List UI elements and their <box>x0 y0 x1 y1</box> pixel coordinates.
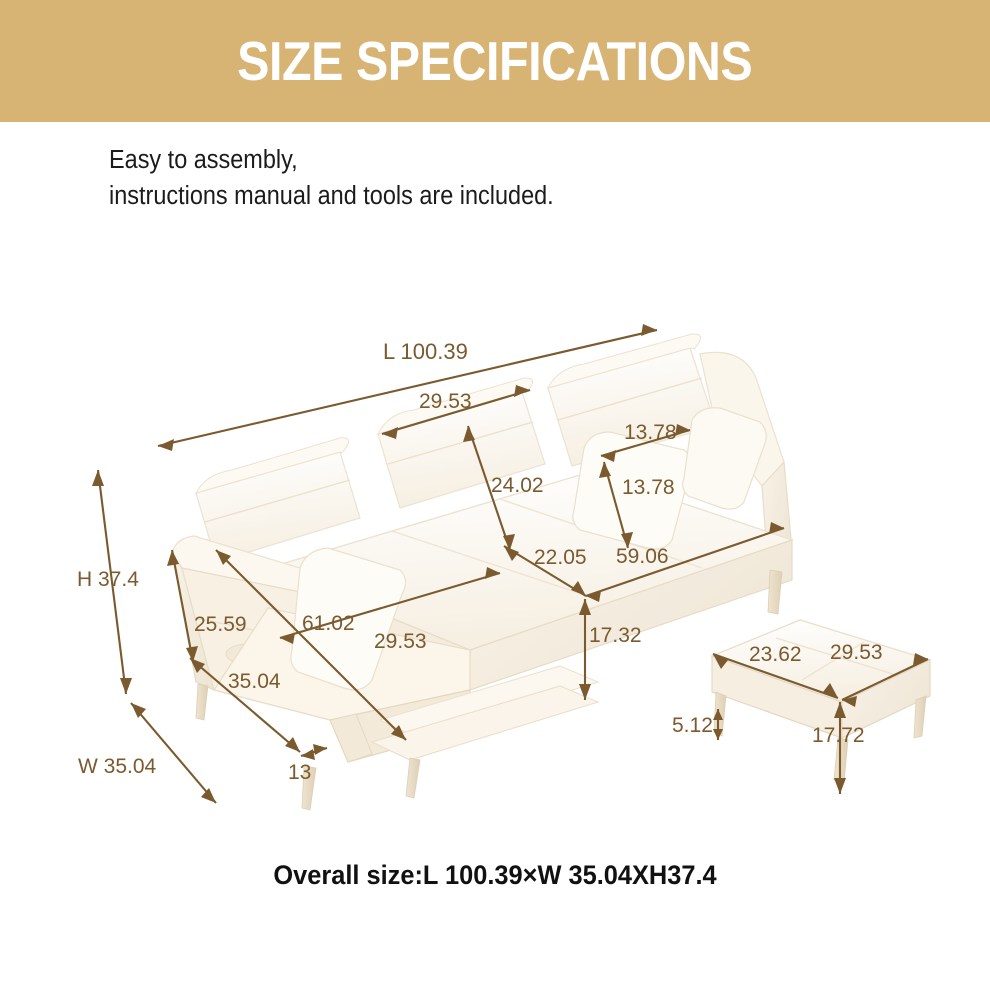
dim-label-overall-length: L 100.39 <box>383 339 468 365</box>
dim-label-pillow-height: 13.78 <box>622 476 675 500</box>
dim-label-armrest-height: 25.59 <box>194 613 247 637</box>
ottoman-group <box>712 620 930 782</box>
dim-label-backrest-width: 29.53 <box>419 390 472 414</box>
sofa-leg-mid <box>406 758 420 798</box>
size-specification-page: SIZE SPECIFICATIONS Easy to assembly, in… <box>0 0 990 990</box>
overall-size-caption: Overall size:L 100.39×W 35.04XH37.4 <box>30 860 961 891</box>
page-title: SIZE SPECIFICATIONS <box>237 34 752 89</box>
dim-label-overall-width: W 35.04 <box>78 755 156 779</box>
dim-label-seat-height: 17.32 <box>589 624 642 648</box>
dim-label-side-depth: 35.04 <box>228 670 281 694</box>
ottoman-leg-right <box>914 696 926 738</box>
dim-label-ottoman-width: 29.53 <box>830 641 883 665</box>
intro-text: Easy to assembly, instructions manual an… <box>109 142 808 214</box>
dim-label-overall-height: H 37.4 <box>77 568 139 592</box>
furniture-illustration <box>0 250 990 840</box>
dim-label-leg-height: 13 <box>288 761 311 785</box>
sofa-pillow-far-right <box>683 408 767 509</box>
dim-label-chaise-length: 61.02 <box>302 612 355 636</box>
dim-label-ottoman-depth: 23.62 <box>749 643 802 667</box>
dimension-drawing: L 100.39 H 37.4 W 35.04 29.53 24.02 13.7… <box>0 250 990 840</box>
header-band: SIZE SPECIFICATIONS <box>0 0 990 122</box>
sofa-leg-left-rear <box>196 684 208 720</box>
dim-label-seat-length: 59.06 <box>616 545 669 569</box>
dim-label-chaise-seat-width: 29.53 <box>374 630 427 654</box>
dim-label-backrest-height: 24.02 <box>491 474 544 498</box>
dim-label-ottoman-leg-height: 5.12 <box>672 714 713 738</box>
dim-label-pillow-width: 13.78 <box>624 421 677 445</box>
dim-label-ottoman-height: 17.72 <box>812 724 865 748</box>
dim-label-seat-depth: 22.05 <box>534 546 587 570</box>
sofa-leg-right <box>768 570 782 614</box>
